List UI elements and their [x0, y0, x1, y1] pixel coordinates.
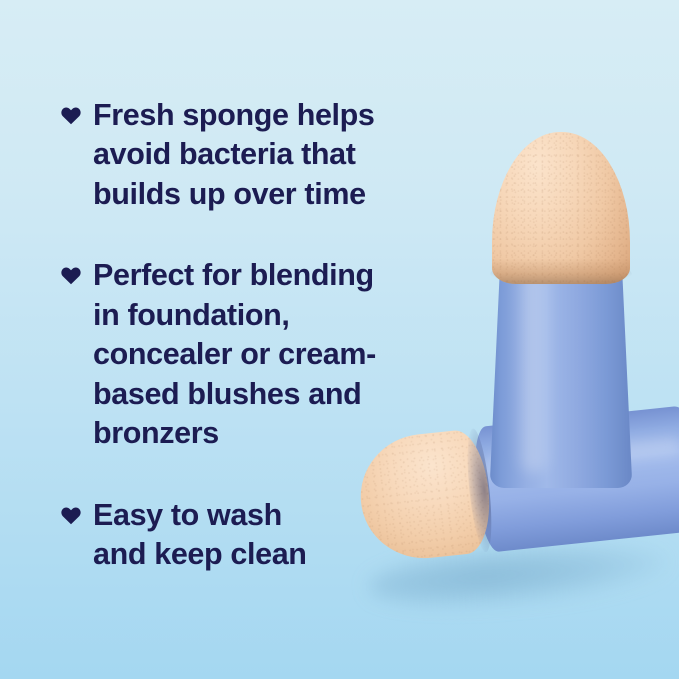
- feature-bullet-1-text: Fresh sponge helps avoid bacteria that b…: [93, 96, 375, 214]
- feature-bullet-3-text: Easy to wash and keep clean: [93, 496, 307, 575]
- sponge-collar-standing: [490, 262, 632, 284]
- sponge-tip-rim-standing: [492, 258, 630, 284]
- heart-icon: [60, 265, 84, 285]
- sponge-tip-texture-standing: [492, 132, 630, 284]
- product-feature-graphic: Fresh sponge helps avoid bacteria that b…: [0, 0, 679, 679]
- makeup-sponge-standing: [466, 132, 656, 482]
- sponge-handle-lying: [470, 406, 679, 554]
- heart-icon: [60, 505, 84, 525]
- feature-bullet-3: Easy to wash and keep clean: [60, 496, 470, 575]
- feature-bullet-2: Perfect for blending in foundation, conc…: [60, 256, 470, 453]
- sponge-handle-highlight-standing: [514, 272, 554, 472]
- drop-shadow-standing-sponge: [470, 452, 655, 496]
- sponge-handle-standing: [490, 268, 632, 488]
- sponge-handle-highlight-lying: [484, 431, 679, 479]
- heart-icon: [60, 105, 84, 125]
- feature-bullet-2-text: Perfect for blending in foundation, conc…: [93, 256, 376, 453]
- feature-bullet-list: Fresh sponge helps avoid bacteria that b…: [0, 0, 470, 575]
- feature-bullet-1: Fresh sponge helps avoid bacteria that b…: [60, 96, 470, 214]
- sponge-tip-standing: [492, 132, 630, 284]
